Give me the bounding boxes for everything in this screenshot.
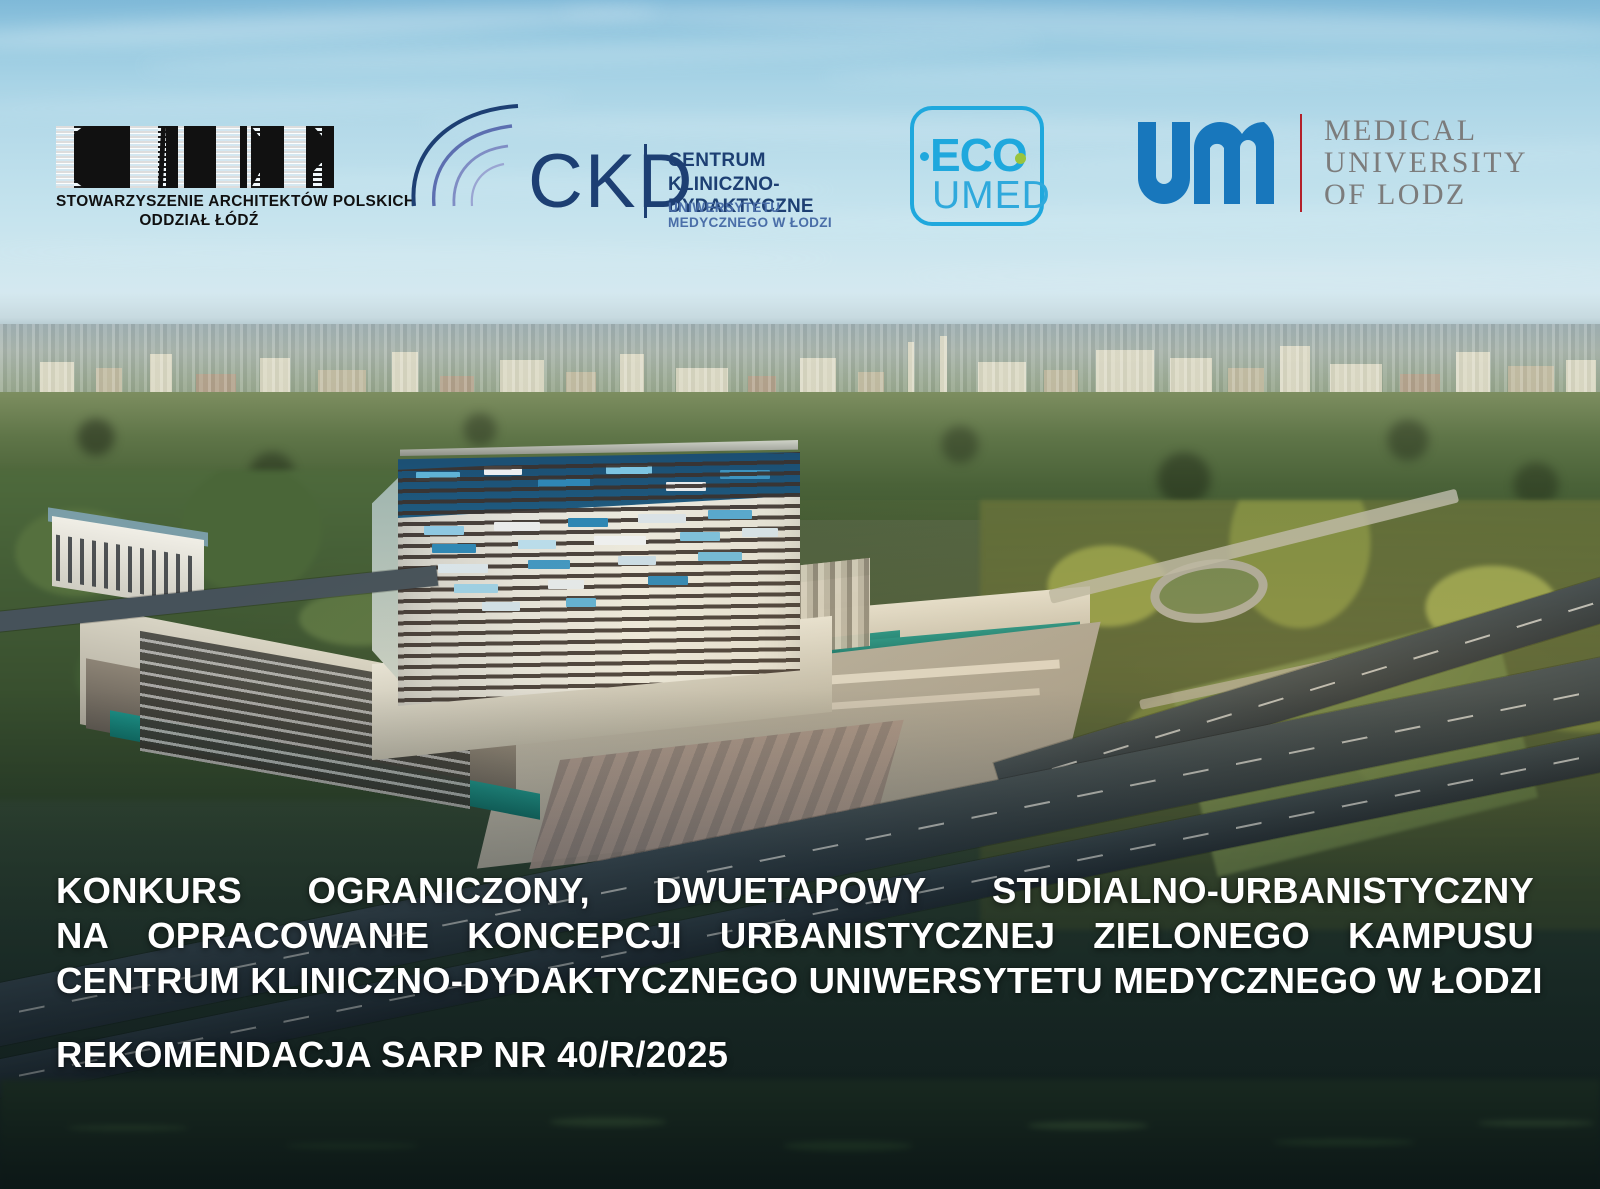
- sarp-striped-mark: [56, 126, 334, 188]
- ckd-line1: CENTRUM: [668, 150, 766, 172]
- cloud-streak: [900, 265, 1600, 282]
- headline-word: KAMPUSU: [1348, 913, 1534, 958]
- headline-word: OPRACOWANIE: [147, 913, 429, 958]
- headline-line-2: NA OPRACOWANIE KONCEPCJI URBANISTYCZNEJ …: [56, 913, 1534, 958]
- tower-floor-bands: [398, 452, 800, 706]
- headline-word: KONKURS: [56, 868, 242, 913]
- headline-line-3: CENTRUM KLINICZNO-DYDAKTYCZNEGO UNIWERSY…: [56, 958, 1534, 1003]
- competition-headline: KONKURS OGRANICZONY, DWUETAPOWY STUDIALN…: [56, 868, 1534, 1003]
- headline-word: KONCEPCJI: [467, 913, 682, 958]
- ckd-line3: UNIWERSYTETU MEDYCZNEGO W ŁODZI: [668, 200, 870, 230]
- medical-university-of-lodz-logo: MEDICAL UNIVERSITY OF LODZ: [1132, 112, 1532, 220]
- eco-green-dot-icon: [1015, 153, 1026, 164]
- cloud-streak: [0, 244, 840, 266]
- um-line1: MEDICAL: [1324, 114, 1477, 148]
- recommendation-label: REKOMENDACJA SARP NR 40/R/2025: [56, 1034, 728, 1076]
- hospital-tower: [398, 452, 800, 706]
- headline-word: NA: [56, 913, 109, 958]
- ckd-logo: CKD CENTRUM KLINICZNO-DYDAKTYCZNE UNIWER…: [400, 102, 870, 228]
- sarp-logo: STOWARZYSZENIE ARCHITEKTÓW POLSKICH ODDZ…: [56, 126, 342, 230]
- headline-word: DWUETAPOWY: [655, 868, 926, 913]
- headline-word: STUDIALNO-URBANISTYCZNY: [992, 868, 1534, 913]
- eco-left-dot-icon: [920, 152, 929, 161]
- eco-wordmark: ECO: [930, 132, 1027, 178]
- headline-line-1: KONKURS OGRANICZONY, DWUETAPOWY STUDIALN…: [56, 868, 1534, 913]
- eco-umed-logo: ECO UMED: [902, 102, 1052, 224]
- sarp-caption-line2: ODDZIAŁ ŁÓDŹ: [56, 212, 342, 230]
- logo-bar: STOWARZYSZENIE ARCHITEKTÓW POLSKICH ODDZ…: [0, 96, 1600, 228]
- um-divider: [1300, 114, 1302, 212]
- headline-word: URBANISTYCZNEJ: [720, 913, 1055, 958]
- poster-root: STOWARZYSZENIE ARCHITEKTÓW POLSKICH ODDZ…: [0, 0, 1600, 1189]
- cloud-streak: [820, 56, 1600, 85]
- um-monogram-icon: [1132, 118, 1277, 204]
- um-line2: UNIVERSITY: [1324, 146, 1528, 180]
- headline-word: ZIELONEGO: [1093, 913, 1310, 958]
- ckd-divider: [644, 144, 647, 218]
- headline-word: OGRANICZONY,: [308, 868, 590, 913]
- foreground-trees: [0, 1080, 1600, 1189]
- umed-wordmark: UMED: [932, 176, 1051, 215]
- sarp-caption-line1: STOWARZYSZENIE ARCHITEKTÓW POLSKICH: [56, 193, 342, 211]
- um-line3: OF LODZ: [1324, 178, 1467, 212]
